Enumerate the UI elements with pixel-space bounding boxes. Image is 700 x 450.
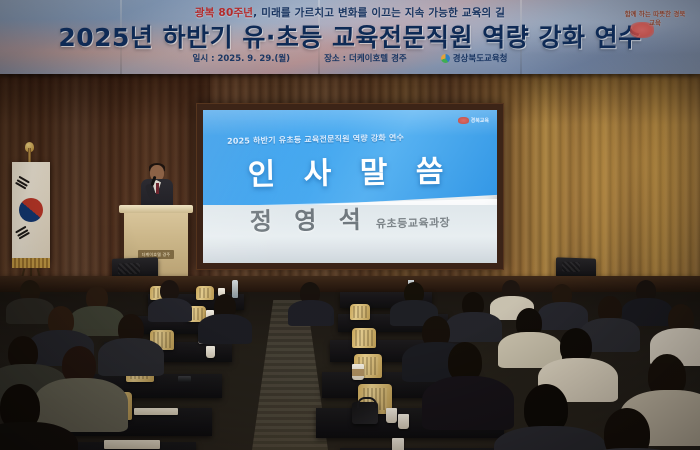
taeguk-symbol-icon	[19, 198, 43, 222]
flag-cloth	[12, 162, 50, 260]
projection-screen: 경북교육 2025 하반기 유초등 교육전문직원 역량 강화 연수 인 사 말 …	[203, 110, 497, 263]
slide-corner-logo: 경북교육	[458, 117, 489, 124]
attendee-shoulders	[288, 300, 334, 326]
attendee-shoulders	[422, 376, 514, 430]
slide-corner-logo-label: 경북교육	[471, 117, 489, 124]
podium-top	[119, 205, 193, 213]
banner-venue: 장소 : 더케이호텔 경주	[324, 52, 407, 64]
slide-speaker-block: 정 영 석유초등교육과장	[203, 197, 497, 237]
attendee-shoulders	[6, 298, 54, 324]
attendee-shoulders	[538, 302, 588, 330]
attendee-shoulders	[494, 426, 606, 450]
trigram-icon	[15, 226, 31, 241]
slide-speaker-name: 정 영 석	[250, 206, 368, 236]
attendee-shoulders	[98, 338, 164, 376]
chair	[350, 304, 370, 320]
coffee-cup	[352, 364, 364, 380]
speaker-tie	[156, 183, 159, 194]
trigram-icon	[14, 176, 30, 191]
handout-paper	[134, 408, 178, 415]
slide-headline: 인 사 말 씀	[203, 145, 497, 194]
attendee-shoulders	[446, 312, 502, 342]
coffee-cup	[398, 414, 409, 429]
smartphone	[178, 376, 191, 382]
coffee-cup	[206, 346, 215, 358]
projection-screen-frame: 경북교육 2025 하반기 유초등 교육전문직원 역량 강화 연수 인 사 말 …	[196, 103, 504, 270]
coffee-cup	[386, 408, 397, 423]
coffee-cup	[392, 438, 404, 450]
chair	[352, 328, 376, 348]
banner-seal: 함께 하는 따뜻한 경북교육	[624, 10, 686, 42]
handout-paper	[104, 440, 160, 449]
audience-area	[0, 280, 700, 450]
office-of-education-logo-icon	[441, 54, 450, 63]
event-banner: 광복 80주년, 미래를 가르치고 변화를 이끄는 지속 가능한 교육의 길 2…	[0, 0, 700, 74]
attendee-shoulders	[198, 314, 252, 344]
banner-date: 일시 : 2025. 9. 29.(월)	[193, 52, 291, 64]
banner-organization: 경상북도교육청	[441, 52, 508, 64]
conference-photo: 광복 80주년, 미래를 가르치고 변화를 이끄는 지속 가능한 교육의 길 2…	[0, 0, 700, 450]
seal-text: 함께 하는 따뜻한 경북교육	[624, 10, 686, 28]
handbag	[352, 402, 378, 424]
attendee-shoulders	[148, 298, 192, 322]
wall-right-light	[510, 60, 700, 310]
banner-title: 2025년 하반기 유·초등 교육전문직원 역량 강화 연수	[0, 18, 700, 54]
banner-organization-label: 경상북도교육청	[453, 52, 508, 64]
chair	[196, 286, 214, 300]
banner-footer: 일시 : 2025. 9. 29.(월) 장소 : 더케이호텔 경주 경상북도교…	[0, 52, 700, 64]
slide-logo-mark-icon	[458, 117, 469, 124]
water-bottle	[232, 280, 238, 298]
slide-speaker-title: 유초등교육과장	[376, 216, 451, 230]
